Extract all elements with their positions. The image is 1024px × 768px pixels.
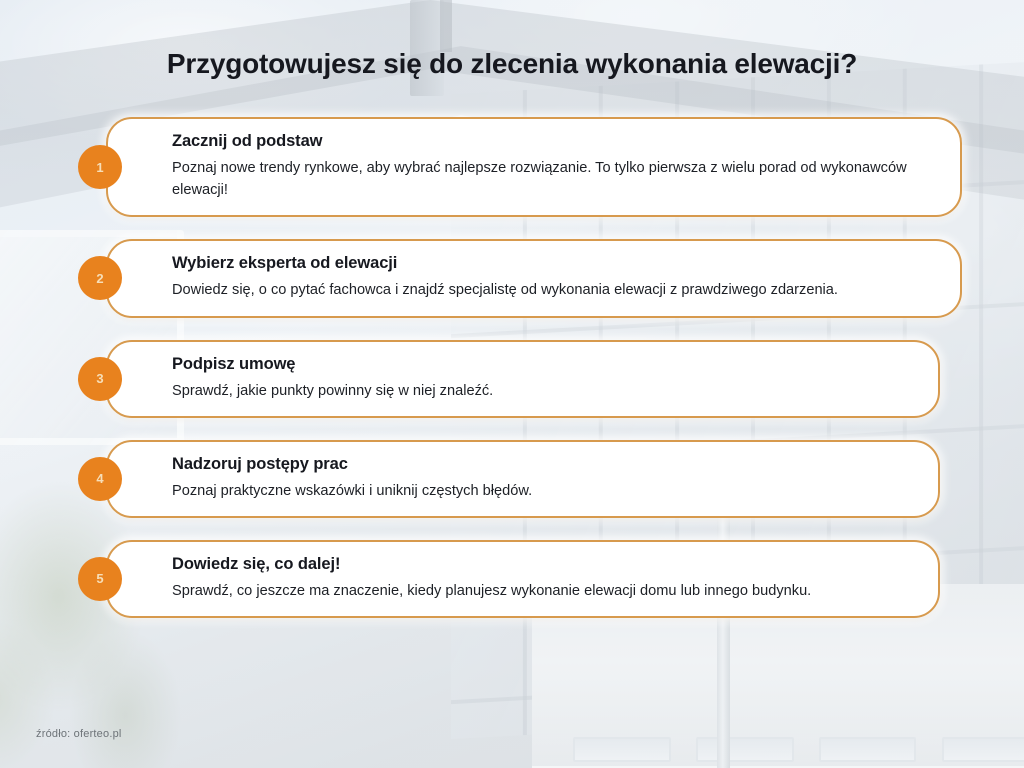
list-item: 2 Wybierz eksperta od elewacji Dowiedz s… bbox=[78, 239, 1024, 317]
step-number-badge: 1 bbox=[78, 145, 122, 189]
step-body: Poznaj praktyczne wskazówki i uniknij cz… bbox=[172, 480, 908, 502]
step-card[interactable]: Wybierz eksperta od elewacji Dowiedz się… bbox=[106, 239, 962, 317]
step-card[interactable]: Podpisz umowę Sprawdź, jakie punkty powi… bbox=[106, 340, 940, 418]
step-heading: Dowiedz się, co dalej! bbox=[172, 555, 908, 574]
step-heading: Zacznij od podstaw bbox=[172, 132, 930, 151]
step-heading: Nadzoruj postępy prac bbox=[172, 455, 908, 474]
content-container: Przygotowujesz się do zlecenia wykonania… bbox=[0, 0, 1024, 768]
step-body: Poznaj nowe trendy rynkowe, aby wybrać n… bbox=[172, 157, 930, 201]
step-number-badge: 4 bbox=[78, 457, 122, 501]
page-title: Przygotowujesz się do zlecenia wykonania… bbox=[0, 48, 1024, 80]
infographic-stage: Przygotowujesz się do zlecenia wykonania… bbox=[0, 0, 1024, 768]
step-heading: Podpisz umowę bbox=[172, 355, 908, 374]
step-body: Sprawdź, jakie punkty powinny się w niej… bbox=[172, 380, 908, 402]
step-number-badge: 3 bbox=[78, 357, 122, 401]
step-card[interactable]: Dowiedz się, co dalej! Sprawdź, co jeszc… bbox=[106, 540, 940, 618]
steps-list: 1 Zacznij od podstaw Poznaj nowe trendy … bbox=[78, 117, 1024, 640]
step-card[interactable]: Zacznij od podstaw Poznaj nowe trendy ry… bbox=[106, 117, 962, 217]
step-number-badge: 5 bbox=[78, 557, 122, 601]
step-number-badge: 2 bbox=[78, 256, 122, 300]
step-body: Sprawdź, co jeszcze ma znaczenie, kiedy … bbox=[172, 580, 908, 602]
step-card[interactable]: Nadzoruj postępy prac Poznaj praktyczne … bbox=[106, 440, 940, 518]
list-item: 5 Dowiedz się, co dalej! Sprawdź, co jes… bbox=[78, 540, 1024, 618]
step-body: Dowiedz się, o co pytać fachowca i znajd… bbox=[172, 279, 930, 301]
step-heading: Wybierz eksperta od elewacji bbox=[172, 254, 930, 273]
list-item: 3 Podpisz umowę Sprawdź, jakie punkty po… bbox=[78, 340, 1024, 418]
list-item: 1 Zacznij od podstaw Poznaj nowe trendy … bbox=[78, 117, 1024, 217]
list-item: 4 Nadzoruj postępy prac Poznaj praktyczn… bbox=[78, 440, 1024, 518]
source-attribution: źródło: oferteo.pl bbox=[36, 728, 122, 740]
